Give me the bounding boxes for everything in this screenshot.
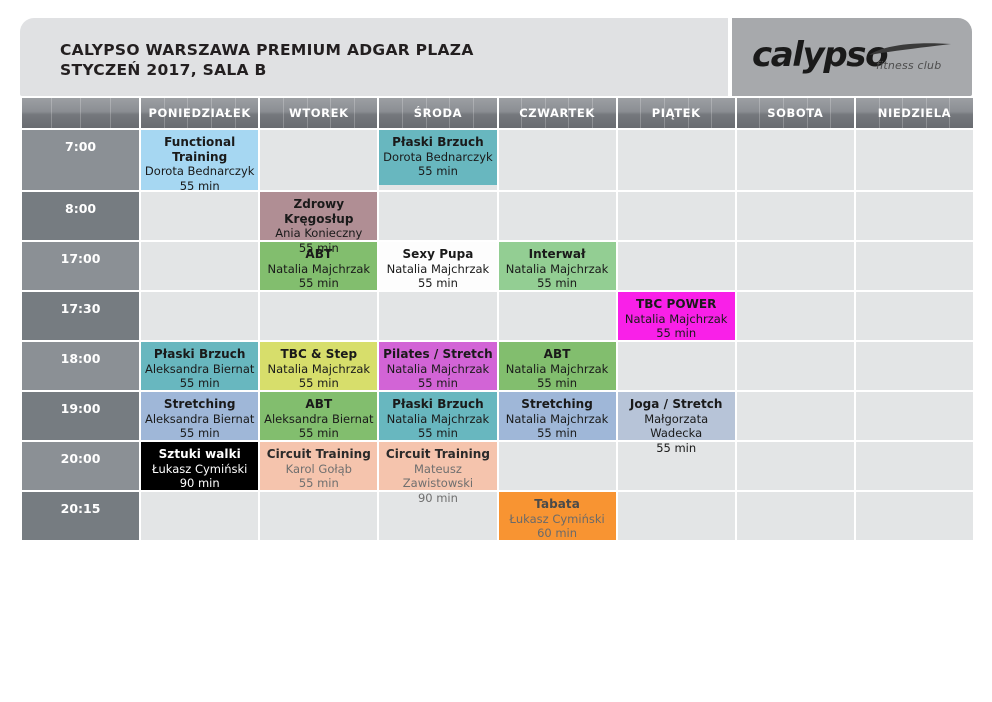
class-slot-cell[interactable]: TBC POWERNatalia Majchrzak55 min bbox=[618, 292, 735, 340]
schedule-row: 20:15TabataŁukasz Cymiński60 min bbox=[22, 492, 973, 540]
class-name: Stretching bbox=[144, 397, 255, 412]
class-name: Circuit Training bbox=[382, 447, 493, 462]
class-duration: 60 min bbox=[502, 526, 613, 541]
class-event[interactable]: TBC & StepNatalia Majchrzak55 min bbox=[260, 342, 377, 390]
time-label: 20:00 bbox=[61, 451, 101, 466]
class-instructor: Mateusz Zawistowski bbox=[382, 462, 493, 491]
class-name: Functional Training bbox=[144, 135, 255, 164]
class-slot-cell[interactable]: Joga / StretchMałgorzata Wadecka55 min bbox=[618, 392, 735, 440]
class-name: Płaski Brzuch bbox=[382, 135, 493, 150]
day-header-7: NIEDZIELA bbox=[856, 98, 973, 128]
schedule-row: 19:00StretchingAleksandra Biernat55 minA… bbox=[22, 392, 973, 440]
class-slot-cell[interactable]: Circuit TrainingKarol Gołąb55 min bbox=[260, 442, 377, 490]
day-header-4: CZWARTEK bbox=[499, 98, 616, 128]
class-event[interactable]: Płaski BrzuchAleksandra Biernat55 min bbox=[141, 342, 258, 390]
class-event[interactable]: TBC POWERNatalia Majchrzak55 min bbox=[618, 292, 735, 340]
class-name: ABT bbox=[263, 247, 374, 262]
empty-slot-cell bbox=[737, 242, 854, 290]
class-event[interactable]: TabataŁukasz Cymiński60 min bbox=[499, 492, 616, 540]
class-duration: 55 min bbox=[144, 376, 255, 391]
class-event[interactable]: Pilates / StretchNatalia Majchrzak55 min bbox=[379, 342, 496, 390]
class-instructor: Dorota Bednarczyk bbox=[144, 164, 255, 179]
class-instructor: Natalia Majchrzak bbox=[502, 412, 613, 427]
time-label-cell: 18:00 bbox=[22, 342, 139, 390]
class-instructor: Ania Konieczny bbox=[263, 226, 374, 241]
day-header-label: NIEDZIELA bbox=[878, 106, 951, 120]
class-instructor: Natalia Majchrzak bbox=[263, 362, 374, 377]
class-duration: 55 min bbox=[144, 426, 255, 441]
class-duration: 55 min bbox=[144, 179, 255, 194]
class-name: Joga / Stretch bbox=[621, 397, 732, 412]
day-header-label: ŚRODA bbox=[414, 106, 462, 120]
class-duration: 55 min bbox=[502, 276, 613, 291]
empty-slot-cell bbox=[260, 130, 377, 190]
class-event[interactable]: Functional TrainingDorota Bednarczyk55 m… bbox=[141, 130, 258, 190]
class-instructor: Natalia Majchrzak bbox=[382, 362, 493, 377]
empty-slot-cell bbox=[141, 242, 258, 290]
schedule-row: 7:00Functional TrainingDorota Bednarczyk… bbox=[22, 130, 973, 190]
logo-tagline: fitness club bbox=[876, 59, 941, 72]
class-duration: 55 min bbox=[382, 376, 493, 391]
class-name: Stretching bbox=[502, 397, 613, 412]
time-label: 8:00 bbox=[65, 201, 96, 216]
class-name: Płaski Brzuch bbox=[382, 397, 493, 412]
empty-slot-cell bbox=[141, 192, 258, 240]
class-slot-cell[interactable]: StretchingNatalia Majchrzak55 min bbox=[499, 392, 616, 440]
class-slot-cell[interactable]: Płaski BrzuchAleksandra Biernat55 min bbox=[141, 342, 258, 390]
empty-slot-cell bbox=[737, 392, 854, 440]
time-label: 19:00 bbox=[61, 401, 101, 416]
empty-slot-cell bbox=[618, 242, 735, 290]
class-instructor: Łukasz Cymiński bbox=[502, 512, 613, 527]
class-duration: 55 min bbox=[382, 426, 493, 441]
class-instructor: Małgorzata Wadecka bbox=[621, 412, 732, 441]
class-slot-cell[interactable]: TBC & StepNatalia Majchrzak55 min bbox=[260, 342, 377, 390]
empty-slot-cell bbox=[737, 342, 854, 390]
day-header-label: SOBOTA bbox=[767, 106, 823, 120]
time-label: 20:15 bbox=[61, 501, 101, 516]
class-duration: 55 min bbox=[621, 326, 732, 341]
time-label: 7:00 bbox=[65, 139, 96, 154]
class-name: Zdrowy Kręgosłup bbox=[263, 197, 374, 226]
period-room-line: STYCZEŃ 2017, SALA B bbox=[60, 60, 728, 80]
schedule-table: PONIEDZIAŁEKWTOREKŚRODACZWARTEKPIĄTEKSOB… bbox=[20, 96, 975, 542]
empty-slot-cell bbox=[737, 192, 854, 240]
calypso-logo-wordmark: calypso bbox=[752, 36, 887, 74]
class-duration: 55 min bbox=[502, 376, 613, 391]
day-header-label: PONIEDZIAŁEK bbox=[148, 106, 250, 120]
empty-slot-cell bbox=[618, 492, 735, 540]
day-header-3: ŚRODA bbox=[379, 98, 496, 128]
class-name: Circuit Training bbox=[263, 447, 374, 462]
day-header-label: WTOREK bbox=[289, 106, 349, 120]
class-slot-cell[interactable]: Functional TrainingDorota Bednarczyk55 m… bbox=[141, 130, 258, 190]
time-label-cell: 17:30 bbox=[22, 292, 139, 340]
class-duration: 55 min bbox=[382, 164, 493, 179]
class-slot-cell[interactable]: ABTNatalia Majchrzak55 min bbox=[260, 242, 377, 290]
class-duration: 55 min bbox=[382, 276, 493, 291]
empty-slot-cell bbox=[856, 342, 973, 390]
class-name: Płaski Brzuch bbox=[144, 347, 255, 362]
class-event[interactable]: Joga / StretchMałgorzata Wadecka55 min bbox=[618, 392, 735, 440]
schedule-row: 20:00Sztuki walkiŁukasz Cymiński90 minCi… bbox=[22, 442, 973, 490]
day-header-label: PIĄTEK bbox=[652, 106, 701, 120]
empty-slot-cell bbox=[141, 492, 258, 540]
class-name: Sztuki walki bbox=[144, 447, 255, 462]
class-instructor: Aleksandra Biernat bbox=[263, 412, 374, 427]
day-header-label: CZWARTEK bbox=[519, 106, 595, 120]
class-instructor: Natalia Majchrzak bbox=[502, 262, 613, 277]
class-slot-cell[interactable]: InterwałNatalia Majchrzak55 min bbox=[499, 242, 616, 290]
class-instructor: Natalia Majchrzak bbox=[263, 262, 374, 277]
empty-slot-cell bbox=[141, 292, 258, 340]
class-name: ABT bbox=[502, 347, 613, 362]
title-panel: CALYPSO WARSZAWA PREMIUM ADGAR PLAZA STY… bbox=[20, 18, 728, 96]
class-slot-cell[interactable]: Sztuki walkiŁukasz Cymiński90 min bbox=[141, 442, 258, 490]
class-instructor: Natalia Majchrzak bbox=[382, 412, 493, 427]
empty-slot-cell bbox=[618, 342, 735, 390]
empty-slot-cell bbox=[856, 192, 973, 240]
class-slot-cell[interactable]: Zdrowy KręgosłupAnia Konieczny55 min bbox=[260, 192, 377, 240]
class-event[interactable]: Płaski BrzuchNatalia Majchrzak55 min bbox=[379, 392, 496, 440]
time-label: 17:30 bbox=[61, 301, 101, 316]
class-name: Sexy Pupa bbox=[382, 247, 493, 262]
club-name-line: CALYPSO WARSZAWA PREMIUM ADGAR PLAZA bbox=[60, 40, 728, 60]
class-event[interactable]: InterwałNatalia Majchrzak55 min bbox=[499, 242, 616, 290]
schedule-row: 8:00Zdrowy KręgosłupAnia Konieczny55 min bbox=[22, 192, 973, 240]
class-instructor: Łukasz Cymiński bbox=[144, 462, 255, 477]
class-event[interactable]: StretchingNatalia Majchrzak55 min bbox=[499, 392, 616, 440]
time-label-cell: 20:00 bbox=[22, 442, 139, 490]
class-instructor: Karol Gołąb bbox=[263, 462, 374, 477]
class-duration: 90 min bbox=[144, 476, 255, 491]
empty-slot-cell bbox=[499, 292, 616, 340]
class-duration: 55 min bbox=[263, 476, 374, 491]
empty-slot-cell bbox=[737, 442, 854, 490]
class-slot-cell[interactable]: ABTAleksandra Biernat55 min bbox=[260, 392, 377, 440]
class-event[interactable]: ABTAleksandra Biernat55 min bbox=[260, 392, 377, 440]
time-label-cell: 8:00 bbox=[22, 192, 139, 240]
schedule-row: 18:00Płaski BrzuchAleksandra Biernat55 m… bbox=[22, 342, 973, 390]
class-instructor: Natalia Majchrzak bbox=[382, 262, 493, 277]
empty-slot-cell bbox=[856, 442, 973, 490]
logo-panel: calypso fitness club bbox=[732, 18, 972, 96]
class-instructor: Natalia Majchrzak bbox=[621, 312, 732, 327]
class-event[interactable]: StretchingAleksandra Biernat55 min bbox=[141, 392, 258, 440]
swoosh-icon bbox=[868, 42, 952, 60]
class-slot-cell[interactable]: Płaski BrzuchNatalia Majchrzak55 min bbox=[379, 392, 496, 440]
time-label-cell: 7:00 bbox=[22, 130, 139, 190]
class-instructor: Aleksandra Biernat bbox=[144, 362, 255, 377]
class-duration: 55 min bbox=[502, 426, 613, 441]
schedule-row: 17:00ABTNatalia Majchrzak55 minSexy Pupa… bbox=[22, 242, 973, 290]
empty-slot-cell bbox=[856, 492, 973, 540]
empty-slot-cell bbox=[260, 292, 377, 340]
class-event[interactable]: Płaski BrzuchDorota Bednarczyk55 min bbox=[379, 130, 496, 185]
class-slot-cell[interactable]: Sexy PupaNatalia Majchrzak55 min bbox=[379, 242, 496, 290]
class-event[interactable]: Sztuki walkiŁukasz Cymiński90 min bbox=[141, 442, 258, 490]
class-slot-cell[interactable]: TabataŁukasz Cymiński60 min bbox=[499, 492, 616, 540]
class-name: TBC POWER bbox=[621, 297, 732, 312]
time-label: 18:00 bbox=[61, 351, 101, 366]
class-slot-cell[interactable]: Pilates / StretchNatalia Majchrzak55 min bbox=[379, 342, 496, 390]
time-label-cell: 17:00 bbox=[22, 242, 139, 290]
class-name: TBC & Step bbox=[263, 347, 374, 362]
schedule-row: 17:30TBC POWERNatalia Majchrzak55 min bbox=[22, 292, 973, 340]
class-instructor: Aleksandra Biernat bbox=[144, 412, 255, 427]
schedule-body: 7:00Functional TrainingDorota Bednarczyk… bbox=[22, 130, 973, 540]
header-corner-cell bbox=[22, 98, 139, 128]
class-event[interactable]: Circuit TrainingKarol Gołąb55 min bbox=[260, 442, 377, 490]
empty-slot-cell bbox=[618, 130, 735, 190]
empty-slot-cell bbox=[737, 492, 854, 540]
class-duration: 55 min bbox=[263, 426, 374, 441]
time-label-cell: 20:15 bbox=[22, 492, 139, 540]
empty-slot-cell bbox=[260, 492, 377, 540]
title-bar: CALYPSO WARSZAWA PREMIUM ADGAR PLAZA STY… bbox=[20, 18, 972, 96]
class-name: Interwał bbox=[502, 247, 613, 262]
class-duration: 55 min bbox=[263, 376, 374, 391]
empty-slot-cell bbox=[499, 442, 616, 490]
empty-slot-cell bbox=[379, 192, 496, 240]
class-duration: 55 min bbox=[263, 276, 374, 291]
time-label-cell: 19:00 bbox=[22, 392, 139, 440]
schedule-header-row: PONIEDZIAŁEKWTOREKŚRODACZWARTEKPIĄTEKSOB… bbox=[22, 98, 973, 128]
class-name: Pilates / Stretch bbox=[382, 347, 493, 362]
class-slot-cell[interactable]: Circuit TrainingMateusz Zawistowski90 mi… bbox=[379, 442, 496, 490]
class-event[interactable]: Circuit TrainingMateusz Zawistowski90 mi… bbox=[379, 442, 496, 490]
empty-slot-cell bbox=[737, 292, 854, 340]
day-header-1: PONIEDZIAŁEK bbox=[141, 98, 258, 128]
time-label: 17:00 bbox=[61, 251, 101, 266]
empty-slot-cell bbox=[856, 242, 973, 290]
day-header-2: WTOREK bbox=[260, 98, 377, 128]
empty-slot-cell bbox=[856, 130, 973, 190]
class-event[interactable]: ABTNatalia Majchrzak55 min bbox=[260, 242, 377, 290]
empty-slot-cell bbox=[379, 292, 496, 340]
class-slot-cell[interactable]: Płaski BrzuchDorota Bednarczyk55 min bbox=[379, 130, 496, 190]
class-instructor: Natalia Majchrzak bbox=[502, 362, 613, 377]
empty-slot-cell bbox=[618, 192, 735, 240]
class-event[interactable]: Zdrowy KręgosłupAnia Konieczny55 min bbox=[260, 192, 377, 240]
empty-slot-cell bbox=[737, 130, 854, 190]
day-header-5: PIĄTEK bbox=[618, 98, 735, 128]
day-header-6: SOBOTA bbox=[737, 98, 854, 128]
empty-slot-cell bbox=[856, 292, 973, 340]
class-event[interactable]: Sexy PupaNatalia Majchrzak55 min bbox=[379, 242, 496, 290]
class-name: Tabata bbox=[502, 497, 613, 512]
empty-slot-cell bbox=[499, 130, 616, 190]
class-event[interactable]: ABTNatalia Majchrzak55 min bbox=[499, 342, 616, 390]
class-instructor: Dorota Bednarczyk bbox=[382, 150, 493, 165]
empty-slot-cell bbox=[856, 392, 973, 440]
empty-slot-cell bbox=[499, 192, 616, 240]
class-slot-cell[interactable]: ABTNatalia Majchrzak55 min bbox=[499, 342, 616, 390]
class-slot-cell[interactable]: StretchingAleksandra Biernat55 min bbox=[141, 392, 258, 440]
class-name: ABT bbox=[263, 397, 374, 412]
